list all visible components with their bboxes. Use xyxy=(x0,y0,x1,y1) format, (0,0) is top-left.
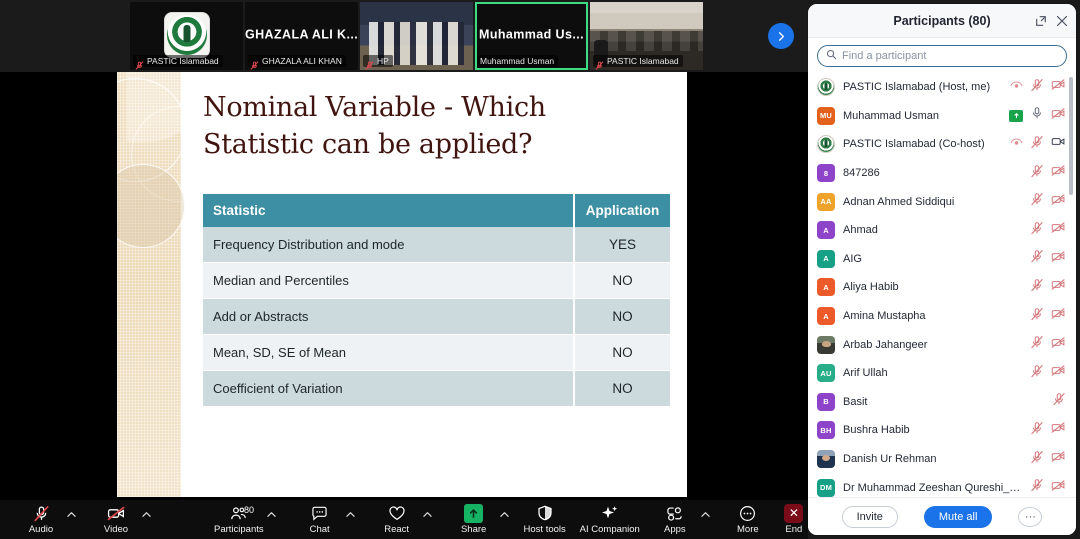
audio-label: Audio xyxy=(29,524,53,535)
table-row: Frequency Distribution and modeYES xyxy=(203,227,670,263)
participant-status-icons xyxy=(1030,306,1066,326)
table-cell-statistic: Frequency Distribution and mode xyxy=(203,227,574,263)
participant-row[interactable]: MUMuhammad Usman xyxy=(808,102,1076,131)
audio-button[interactable]: Audio xyxy=(18,500,64,539)
participant-name: Adnan Ahmed Siddiqui xyxy=(843,196,1022,208)
chevron-up-icon[interactable] xyxy=(64,511,79,520)
mic-off-icon[interactable] xyxy=(1030,164,1044,183)
mic-off-icon[interactable] xyxy=(1030,335,1044,354)
participant-name: PASTIC Islamabad (Co-host) xyxy=(843,138,1002,150)
more-label: More xyxy=(737,524,759,535)
search-icon xyxy=(826,47,837,65)
participant-status-icons xyxy=(1030,163,1066,183)
video-thumbnail-pastic-room[interactable]: PASTIC Islamabad xyxy=(590,2,703,70)
participant-name: Bushra Habib xyxy=(843,424,1022,436)
participant-status-icons xyxy=(1030,192,1066,212)
apps-button[interactable]: Apps xyxy=(652,500,698,539)
video-off-icon[interactable] xyxy=(1051,420,1066,440)
video-off-icon[interactable] xyxy=(1051,106,1066,126)
participants-panel-title: Participants (80) xyxy=(893,14,990,28)
thumbnail-name-badge: GHAZALA ALI KHAN xyxy=(248,55,346,67)
video-thumbnail-muhammad-usman[interactable]: Muhammad Us...Muhammad Usman xyxy=(475,2,588,70)
react-label: React xyxy=(384,524,409,535)
avatar: A xyxy=(817,250,835,268)
avatar xyxy=(817,135,835,153)
thumbnail-name-badge: PASTIC Islamabad xyxy=(133,55,223,67)
table-cell-statistic: Coefficient of Variation xyxy=(203,371,574,407)
participant-status-icons xyxy=(1009,106,1066,126)
shared-screen-stage: Nominal Variable - Which Statistic can b… xyxy=(0,72,808,500)
participant-name: PASTIC Islamabad (Host, me) xyxy=(843,81,1002,93)
chevron-up-icon[interactable] xyxy=(698,511,713,520)
mic-off-icon xyxy=(135,57,144,66)
participant-name: Danish Ur Rehman xyxy=(843,453,1022,465)
close-icon[interactable] xyxy=(1056,15,1068,27)
participants-panel: Participants (80) xyxy=(808,4,1076,535)
table-cell-application: NO xyxy=(574,335,670,371)
participant-row[interactable]: BBasit xyxy=(808,388,1076,417)
participant-row[interactable]: AAIG xyxy=(808,245,1076,274)
thumbnail-label-text: GHAZALA ALI KHAN xyxy=(262,56,342,66)
mic-off-icon[interactable] xyxy=(1030,478,1044,497)
participant-name: Muhammad Usman xyxy=(843,110,1001,122)
participant-status-icons xyxy=(1030,363,1066,383)
table-cell-application: NO xyxy=(574,263,670,299)
apps-label: Apps xyxy=(664,524,686,535)
video-off-icon[interactable] xyxy=(1051,306,1066,326)
avatar: A xyxy=(817,221,835,239)
statistic-application-table: Statistic Application Frequency Distribu… xyxy=(203,194,670,407)
mic-off-icon[interactable] xyxy=(1030,249,1044,268)
video-on-icon[interactable] xyxy=(1051,134,1066,154)
heart-icon xyxy=(388,505,406,522)
participant-row[interactable]: Danish Ur Rehman xyxy=(808,445,1076,474)
thumbnail-display-name: GHAZALA ALI K... xyxy=(245,28,358,42)
video-off-icon[interactable] xyxy=(1051,335,1066,355)
participant-name: Dr Muhammad Zeeshan Qureshi_MIU xyxy=(843,482,1022,494)
shield-icon xyxy=(537,505,553,522)
participants-label: Participants xyxy=(214,524,264,535)
mic-off-icon[interactable] xyxy=(1030,192,1044,211)
video-thumbnail-strip: PASTIC IslamabadGHAZALA ALI K...GHAZALA … xyxy=(0,0,808,72)
ai-companion-button[interactable]: AI Companion xyxy=(580,500,640,539)
mic-off-icon[interactable] xyxy=(1030,278,1044,297)
participant-row[interactable]: PASTIC Islamabad (Host, me) xyxy=(808,73,1076,102)
mic-off-icon[interactable] xyxy=(1030,135,1044,154)
table-cell-statistic: Median and Percentiles xyxy=(203,263,574,299)
video-off-icon[interactable] xyxy=(1051,77,1066,97)
view-eye-icon xyxy=(1010,78,1023,96)
share-button[interactable]: Share xyxy=(451,500,497,539)
participant-status-icons xyxy=(1030,220,1066,240)
thumbnail-label-text: Muhammad Usman xyxy=(480,56,554,66)
participant-search-wrapper xyxy=(808,38,1076,73)
participant-row[interactable]: AAAdnan Ahmed Siddiqui xyxy=(808,187,1076,216)
video-off-icon[interactable] xyxy=(1051,449,1066,469)
participants-count-badge: 80 xyxy=(244,505,254,515)
mic-off-icon xyxy=(595,57,604,66)
video-thumbnail-pastic-logo[interactable]: PASTIC Islamabad xyxy=(130,2,243,70)
participant-row[interactable]: AAliya Habib xyxy=(808,273,1076,302)
table-cell-application: YES xyxy=(574,227,670,263)
screen-share-badge-icon xyxy=(1009,110,1023,122)
participant-status-icons xyxy=(1030,277,1066,297)
video-off-icon[interactable] xyxy=(1051,363,1066,383)
table-cell-application: NO xyxy=(574,299,670,335)
thumbnail-name-badge: Muhammad Usman xyxy=(478,55,558,67)
participants-button[interactable]: 80Participants xyxy=(214,500,264,539)
mute-all-button[interactable]: Mute all xyxy=(924,506,993,528)
end-call-icon: ✕ xyxy=(784,504,803,523)
video-thumbnail-ghazala[interactable]: GHAZALA ALI K...GHAZALA ALI KHAN xyxy=(245,2,358,70)
mic-off-icon[interactable] xyxy=(1030,364,1044,383)
participant-row[interactable]: DMDr Muhammad Zeeshan Qureshi_MIU xyxy=(808,473,1076,497)
participant-row[interactable]: 8847286 xyxy=(808,159,1076,188)
meeting-toolbar: AudioVideo80ParticipantsChatReactShareHo… xyxy=(0,500,808,539)
thumbnail-label-text: HP xyxy=(377,56,389,66)
more-dots-icon xyxy=(739,505,756,522)
participant-row[interactable]: AUArif Ullah xyxy=(808,359,1076,388)
react-button[interactable]: React xyxy=(374,500,420,539)
participants-scrollbar[interactable] xyxy=(1069,77,1073,195)
table-row: Mean, SD, SE of MeanNO xyxy=(203,335,670,371)
apps-icon xyxy=(666,505,683,522)
chevron-up-icon[interactable] xyxy=(139,511,154,520)
participants-list[interactable]: PASTIC Islamabad (Host, me)MUMuhammad Us… xyxy=(808,73,1076,497)
participant-row[interactable]: Arbab Jahangeer xyxy=(808,330,1076,359)
thumbnail-label-text: PASTIC Islamabad xyxy=(147,56,219,66)
video-button[interactable]: Video xyxy=(93,500,139,539)
chat-icon xyxy=(311,505,328,522)
participant-row[interactable]: PASTIC Islamabad (Co-host) xyxy=(808,130,1076,159)
invite-button[interactable]: Invite xyxy=(842,506,898,528)
table-header-statistic: Statistic xyxy=(203,194,574,227)
video-thumbnail-hp[interactable]: HP xyxy=(360,2,473,70)
mic-off-icon xyxy=(365,57,374,66)
participant-status-icons xyxy=(1030,335,1066,355)
more-button[interactable]: More xyxy=(725,500,771,539)
video-off-icon[interactable] xyxy=(1051,277,1066,297)
table-cell-statistic: Add or Abstracts xyxy=(203,299,574,335)
avatar: BH xyxy=(817,421,835,439)
participant-status-icons xyxy=(1010,134,1066,154)
thumbnail-name-badge: PASTIC Islamabad xyxy=(593,55,683,67)
table-header-row: Statistic Application xyxy=(203,194,670,227)
avatar: MU xyxy=(817,107,835,125)
mic-off-icon[interactable] xyxy=(1030,421,1044,440)
participant-name: Amina Mustapha xyxy=(843,310,1022,322)
chevron-up-icon[interactable] xyxy=(497,511,512,520)
participant-search-box[interactable] xyxy=(817,45,1067,67)
host-tools-button[interactable]: Host tools xyxy=(522,500,568,539)
avatar: 8 xyxy=(817,164,835,182)
avatar xyxy=(817,450,835,468)
share-label: Share xyxy=(461,524,486,535)
avatar: A xyxy=(817,307,835,325)
search-input[interactable] xyxy=(842,50,1058,62)
table-cell-application: NO xyxy=(574,371,670,407)
participants-panel-footer: Invite Mute all ··· xyxy=(808,497,1076,535)
video-label: Video xyxy=(104,524,128,535)
presentation-slide: Nominal Variable - Which Statistic can b… xyxy=(117,72,687,497)
host-tools-label: Host tools xyxy=(524,524,566,535)
end-meeting-label: End xyxy=(785,524,802,535)
share-screen-icon xyxy=(464,505,483,522)
participant-name: Arif Ullah xyxy=(843,367,1022,379)
avatar: AA xyxy=(817,193,835,211)
table-header-application: Application xyxy=(574,194,670,227)
thumbnail-display-name: Muhammad Us... xyxy=(475,28,588,42)
video-off-icon[interactable] xyxy=(1051,249,1066,269)
avatar: A xyxy=(817,278,835,296)
share-screen-icon xyxy=(464,504,483,523)
next-page-arrow-icon[interactable] xyxy=(768,23,794,49)
chevron-up-icon[interactable] xyxy=(420,511,435,520)
video-off-icon[interactable] xyxy=(1051,163,1066,183)
chat-button[interactable]: Chat xyxy=(297,500,343,539)
chevron-up-icon[interactable] xyxy=(343,511,358,520)
avatar: DM xyxy=(817,479,835,497)
slide-decorative-band xyxy=(117,72,181,497)
view-eye-icon xyxy=(1010,135,1023,153)
participant-row[interactable]: AAhmad xyxy=(808,216,1076,245)
participant-name: 847286 xyxy=(843,167,1022,179)
mic-off-icon[interactable] xyxy=(1030,307,1044,326)
table-row: Median and PercentilesNO xyxy=(203,263,670,299)
pastic-logo-icon xyxy=(164,12,210,58)
participant-name: Ahmad xyxy=(843,224,1022,236)
participant-name: Arbab Jahangeer xyxy=(843,339,1022,351)
participant-status-icons xyxy=(1052,392,1066,411)
participant-name: AIG xyxy=(843,253,1022,265)
mic-off-icon xyxy=(33,505,50,522)
table-row: Coefficient of VariationNO xyxy=(203,371,670,407)
participant-status-icons xyxy=(1030,249,1066,269)
popout-icon[interactable] xyxy=(1035,15,1047,27)
table-row: Add or AbstractsNO xyxy=(203,299,670,335)
chevron-up-icon[interactable] xyxy=(264,511,279,520)
mic-off-icon[interactable] xyxy=(1030,450,1044,469)
mic-off-icon xyxy=(250,57,259,66)
avatar: AU xyxy=(817,364,835,382)
sparkle-icon xyxy=(601,505,619,522)
avatar xyxy=(817,78,835,96)
video-off-icon xyxy=(107,505,126,522)
panel-more-options-button[interactable]: ··· xyxy=(1018,507,1042,527)
slide-title: Nominal Variable - Which Statistic can b… xyxy=(203,90,643,163)
video-off-icon[interactable] xyxy=(1051,192,1066,212)
participant-status-icons xyxy=(1030,449,1066,469)
participant-name: Basit xyxy=(843,396,1044,408)
chat-label: Chat xyxy=(310,524,330,535)
participant-status-icons xyxy=(1030,478,1066,497)
participant-name: Aliya Habib xyxy=(843,281,1022,293)
thumbnail-label-text: PASTIC Islamabad xyxy=(607,56,679,66)
zoom-meeting-window: PASTIC IslamabadGHAZALA ALI K...GHAZALA … xyxy=(0,0,1080,539)
participant-row[interactable]: BHBushra Habib xyxy=(808,416,1076,445)
mic-off-icon[interactable] xyxy=(1030,221,1044,240)
participant-status-icons xyxy=(1030,420,1066,440)
participants-panel-header: Participants (80) xyxy=(808,4,1076,38)
mic-off-icon[interactable] xyxy=(1030,78,1044,97)
video-off-icon[interactable] xyxy=(1051,220,1066,240)
video-off-icon[interactable] xyxy=(1051,478,1066,497)
mic-on-icon[interactable] xyxy=(1030,106,1044,125)
mic-off-icon[interactable] xyxy=(1052,392,1066,411)
participant-status-icons xyxy=(1010,77,1066,97)
thumbnail-name-badge: HP xyxy=(363,55,393,67)
participant-row[interactable]: AAmina Mustapha xyxy=(808,302,1076,331)
avatar xyxy=(817,336,835,354)
ai-companion-label: AI Companion xyxy=(580,524,640,535)
table-cell-statistic: Mean, SD, SE of Mean xyxy=(203,335,574,371)
avatar: B xyxy=(817,393,835,411)
